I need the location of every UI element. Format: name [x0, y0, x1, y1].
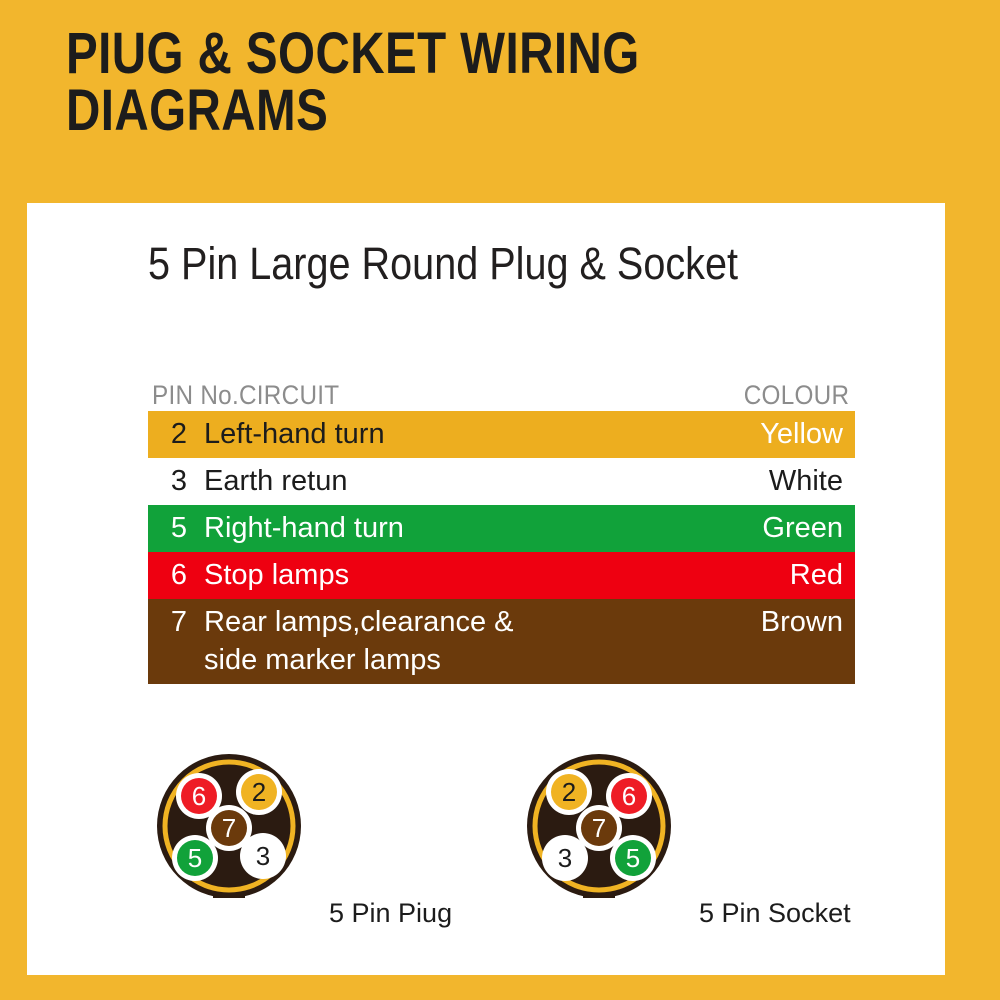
- plug-connector-graphic: 62753: [151, 748, 307, 918]
- table-header-row: PIN No.CIRCUIT COLOUR: [148, 369, 855, 411]
- socket-connector-graphic: 26735: [521, 748, 677, 918]
- socket-pin-label-7: 7: [592, 813, 606, 843]
- column-header-colour: COLOUR: [743, 380, 849, 411]
- cell-pin-number: 2: [158, 415, 200, 453]
- socket-pin-label-3: 3: [558, 843, 572, 873]
- plug-pin-2: 2: [236, 769, 282, 815]
- page-title: PIUG & SOCKET WIRING DIAGRAMS: [66, 26, 771, 140]
- plug-caption: 5 Pin Piug: [329, 898, 452, 929]
- panel-subtitle: 5 Pin Large Round Plug & Socket: [148, 241, 738, 286]
- cell-pin-number: 7: [158, 603, 200, 641]
- socket-pin-label-2: 2: [562, 777, 576, 807]
- plug-pin-label-5: 5: [188, 843, 202, 873]
- column-header-pin-circuit: PIN No.CIRCUIT: [152, 380, 339, 411]
- cell-pin-number: 6: [158, 556, 200, 594]
- table-row: 7Rear lamps,clearance & side marker lamp…: [148, 599, 855, 684]
- connector-diagrams: 62753 5 Pin Piug 26735 5 Pin Socket: [27, 748, 945, 973]
- plug-pin-label-3: 3: [256, 841, 270, 871]
- socket-pin-2: 2: [546, 769, 592, 815]
- cell-colour-name: Red: [790, 556, 843, 594]
- cell-colour-name: Brown: [761, 603, 843, 641]
- table-row: 3Earth retunWhite: [148, 458, 855, 505]
- cell-colour-name: Yellow: [760, 415, 843, 453]
- table-body: 2Left-hand turnYellow3Earth retunWhite5R…: [148, 411, 855, 684]
- socket-diagram: 26735 5 Pin Socket: [521, 748, 677, 918]
- socket-caption: 5 Pin Socket: [699, 898, 851, 929]
- socket-pin-label-6: 6: [622, 781, 636, 811]
- content-panel: 5 Pin Large Round Plug & Socket PIN No.C…: [27, 203, 945, 975]
- plug-diagram: 62753 5 Pin Piug: [151, 748, 307, 918]
- cell-circuit-description: Left-hand turn: [200, 415, 760, 453]
- table-row: 2Left-hand turnYellow: [148, 411, 855, 458]
- cell-pin-number: 5: [158, 509, 200, 547]
- plug-pin-3: 3: [240, 833, 286, 879]
- cell-colour-name: White: [769, 462, 843, 500]
- title-block: PIUG & SOCKET WIRING DIAGRAMS: [66, 26, 926, 140]
- plug-pin-label-7: 7: [222, 813, 236, 843]
- wiring-table: PIN No.CIRCUIT COLOUR 2Left-hand turnYel…: [148, 369, 855, 684]
- plug-pin-label-6: 6: [192, 781, 206, 811]
- cell-colour-name: Green: [762, 509, 843, 547]
- socket-pin-label-5: 5: [626, 843, 640, 873]
- cell-circuit-description: Right-hand turn: [200, 509, 762, 547]
- socket-pin-5: 5: [610, 835, 656, 881]
- poster-background: PIUG & SOCKET WIRING DIAGRAMS 5 Pin Larg…: [0, 0, 1000, 1000]
- cell-pin-number: 3: [158, 462, 200, 500]
- socket-pin-3: 3: [542, 835, 588, 881]
- plug-pin-5: 5: [172, 835, 218, 881]
- plug-pin-label-2: 2: [252, 777, 266, 807]
- table-row: 6Stop lampsRed: [148, 552, 855, 599]
- cell-circuit-description: Rear lamps,clearance & side marker lamps: [200, 603, 761, 679]
- cell-circuit-description: Earth retun: [200, 462, 769, 500]
- cell-circuit-description: Stop lamps: [200, 556, 790, 594]
- table-row: 5Right-hand turnGreen: [148, 505, 855, 552]
